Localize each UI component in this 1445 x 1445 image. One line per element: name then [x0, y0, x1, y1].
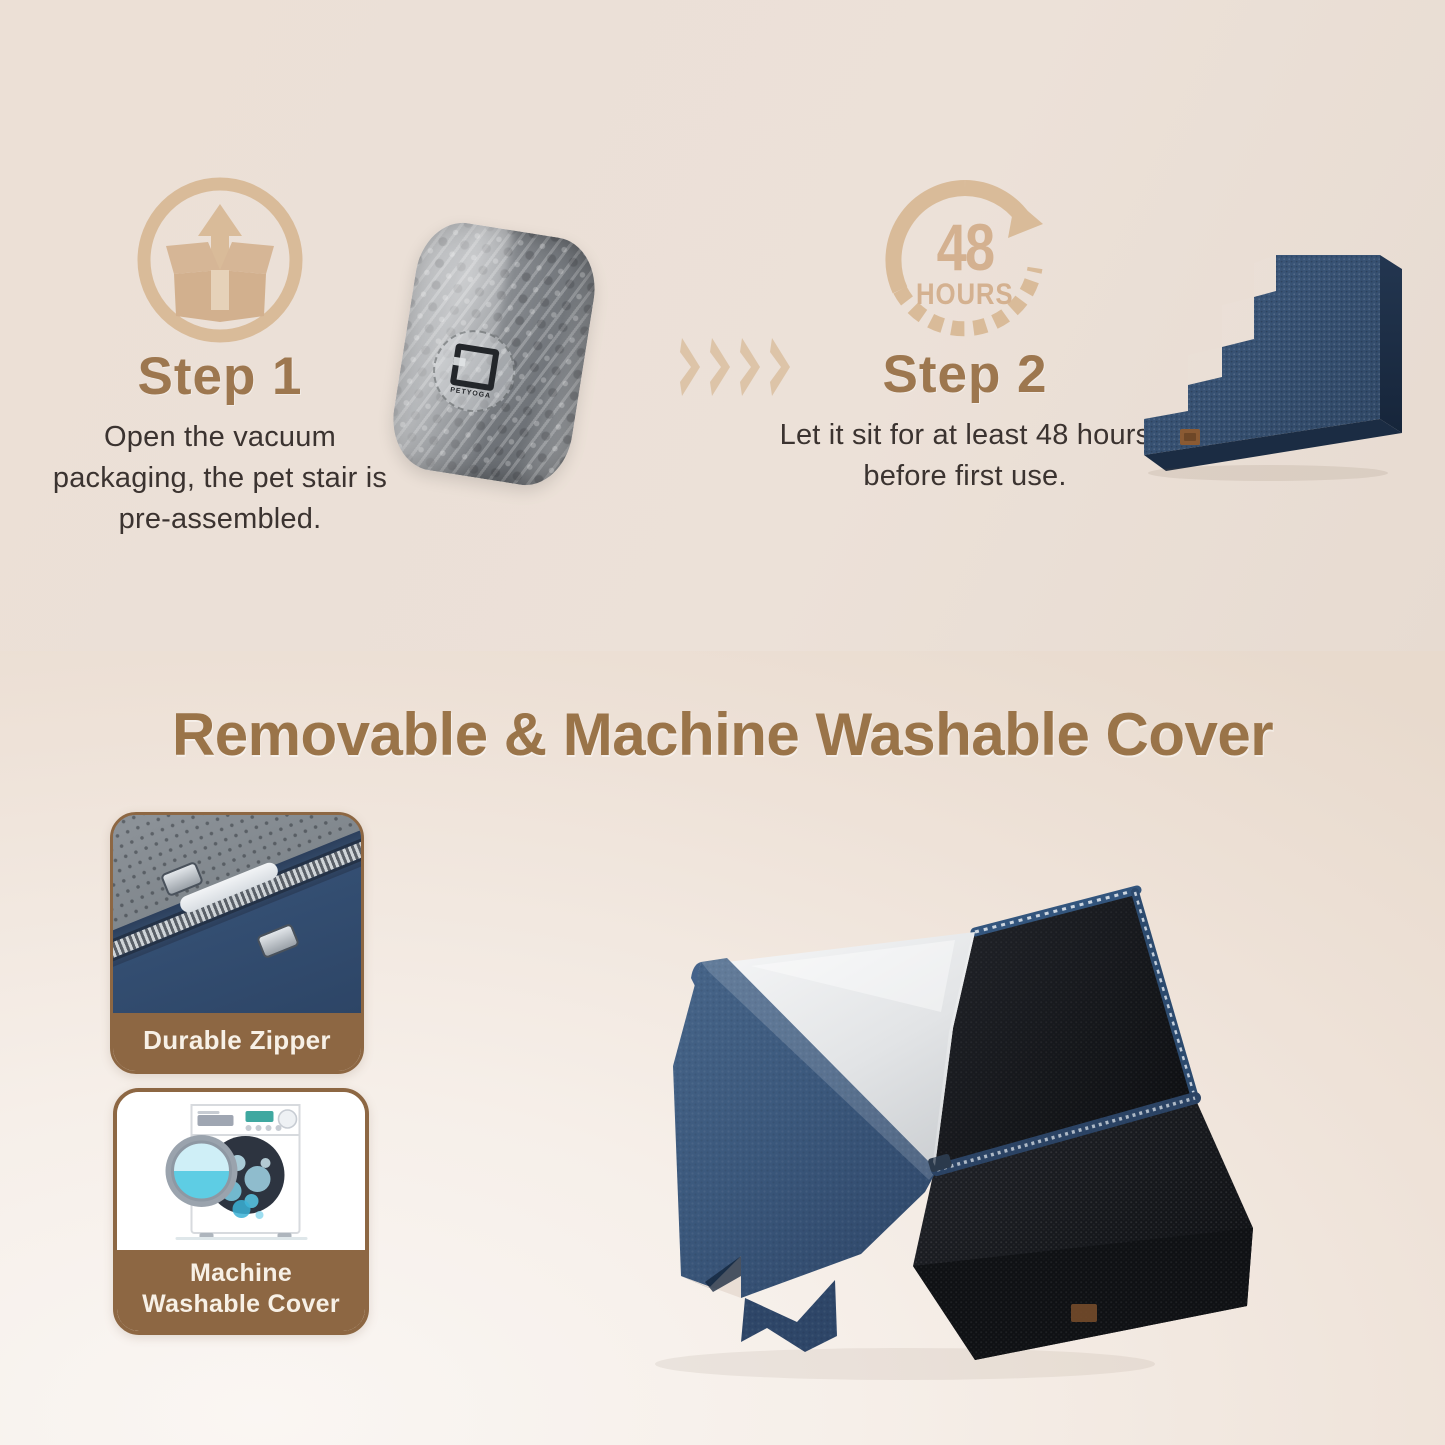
washable-label-line-2: Washable Cover — [121, 1289, 361, 1320]
machine-washable-cover-label: Machine Washable Cover — [117, 1250, 365, 1331]
page-title: Removable & Machine Washable Cover — [0, 700, 1445, 769]
navy-pet-stairs-photo — [1118, 243, 1418, 483]
hours-number: 48 — [937, 210, 994, 284]
step-2-title: Step 2 — [755, 348, 1175, 401]
washable-label-line-1: Machine — [121, 1258, 361, 1289]
step-2-column: 48 HOURS Step 2 Let it sit for at least … — [755, 172, 1175, 497]
pet-stairs-cover-peeled-back-photo — [505, 836, 1265, 1396]
step-1-column: Step 1 Open the vacuum packaging, the pe… — [10, 170, 430, 541]
zipper-closeup-photo — [113, 815, 361, 1013]
48-hours-clock-icon: 48 HOURS — [755, 172, 1175, 348]
step-2-description: Let it sit for at least 48 hours before … — [775, 415, 1155, 497]
washing-machine-icon — [117, 1092, 365, 1250]
infographic-page: Step 1 Open the vacuum packaging, the pe… — [0, 0, 1445, 1445]
step-1-description: Open the vacuum packaging, the pet stair… — [40, 417, 400, 541]
vacuum-packed-roll-photo: PETYOGA — [386, 216, 603, 491]
open-box-arrow-icon — [10, 170, 430, 350]
machine-washable-cover-card: Machine Washable Cover — [113, 1088, 369, 1335]
durable-zipper-label: Durable Zipper — [113, 1013, 361, 1071]
steps-section: Step 1 Open the vacuum packaging, the pe… — [0, 0, 1445, 651]
durable-zipper-card: Durable Zipper — [110, 812, 364, 1074]
step-1-title: Step 1 — [10, 350, 430, 403]
hours-unit: HOURS — [916, 277, 1013, 310]
